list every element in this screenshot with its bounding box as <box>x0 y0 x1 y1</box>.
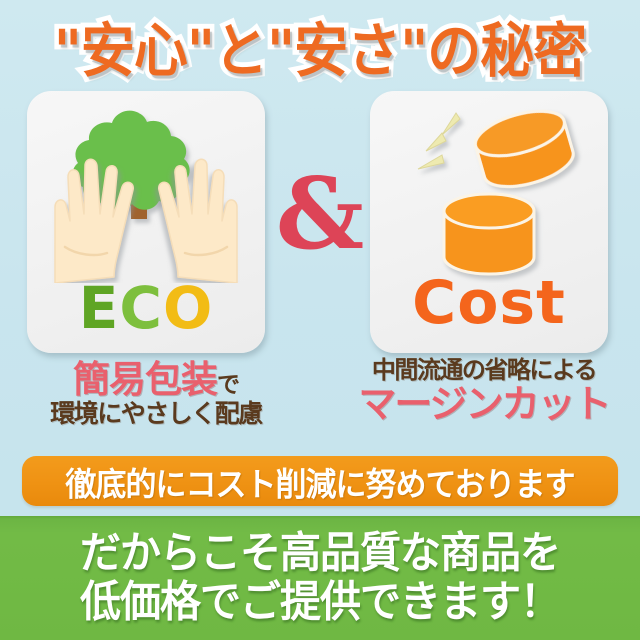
caption-right: 中間流通の省略による マージンカット <box>346 358 622 425</box>
eco-letter-e: E <box>79 274 120 342</box>
caption-left-subline: 環境にやさしく配慮 <box>18 401 294 428</box>
caption-right-topline: 中間流通の省略による <box>346 358 622 383</box>
caption-left: 簡易包装で 環境にやさしく配慮 <box>18 360 294 428</box>
caption-right-highlight: マージンカット <box>346 384 622 424</box>
hands-holding-tree-icon <box>27 95 265 283</box>
footer-message: だからこそ高品質な商品を 低価格でご提供できます！ <box>0 516 640 640</box>
coin-stack-being-cut-icon <box>370 93 608 283</box>
promo-banner: "安心"と"安さ"の秘密 <box>0 0 640 640</box>
eco-card: ECO <box>27 91 265 353</box>
cost-wordmark: Cost <box>370 273 608 333</box>
page-title: "安心"と"安さ"の秘密 <box>54 2 587 87</box>
eco-wordmark: ECO <box>27 279 265 337</box>
cost-reduction-ribbon: 徹底的にコスト削減に努めております <box>22 456 618 506</box>
eco-letter-c: C <box>119 274 163 342</box>
footer-line-1: だからこそ高品質な商品を <box>80 528 560 580</box>
ribbon-text: 徹底的にコスト削減に努めております <box>65 457 574 504</box>
footer-line-2: 低価格でご提供できます！ <box>80 577 560 629</box>
ampersand-separator: & <box>268 166 372 264</box>
cost-card: Cost <box>370 91 608 353</box>
eco-letter-o: O <box>163 274 213 342</box>
caption-left-suffix: で <box>217 372 239 398</box>
banner-title-wrap: "安心"と"安さ"の秘密 <box>0 6 640 84</box>
caption-left-highlight: 簡易包装 <box>73 358 217 401</box>
impact-sparks <box>418 113 460 169</box>
